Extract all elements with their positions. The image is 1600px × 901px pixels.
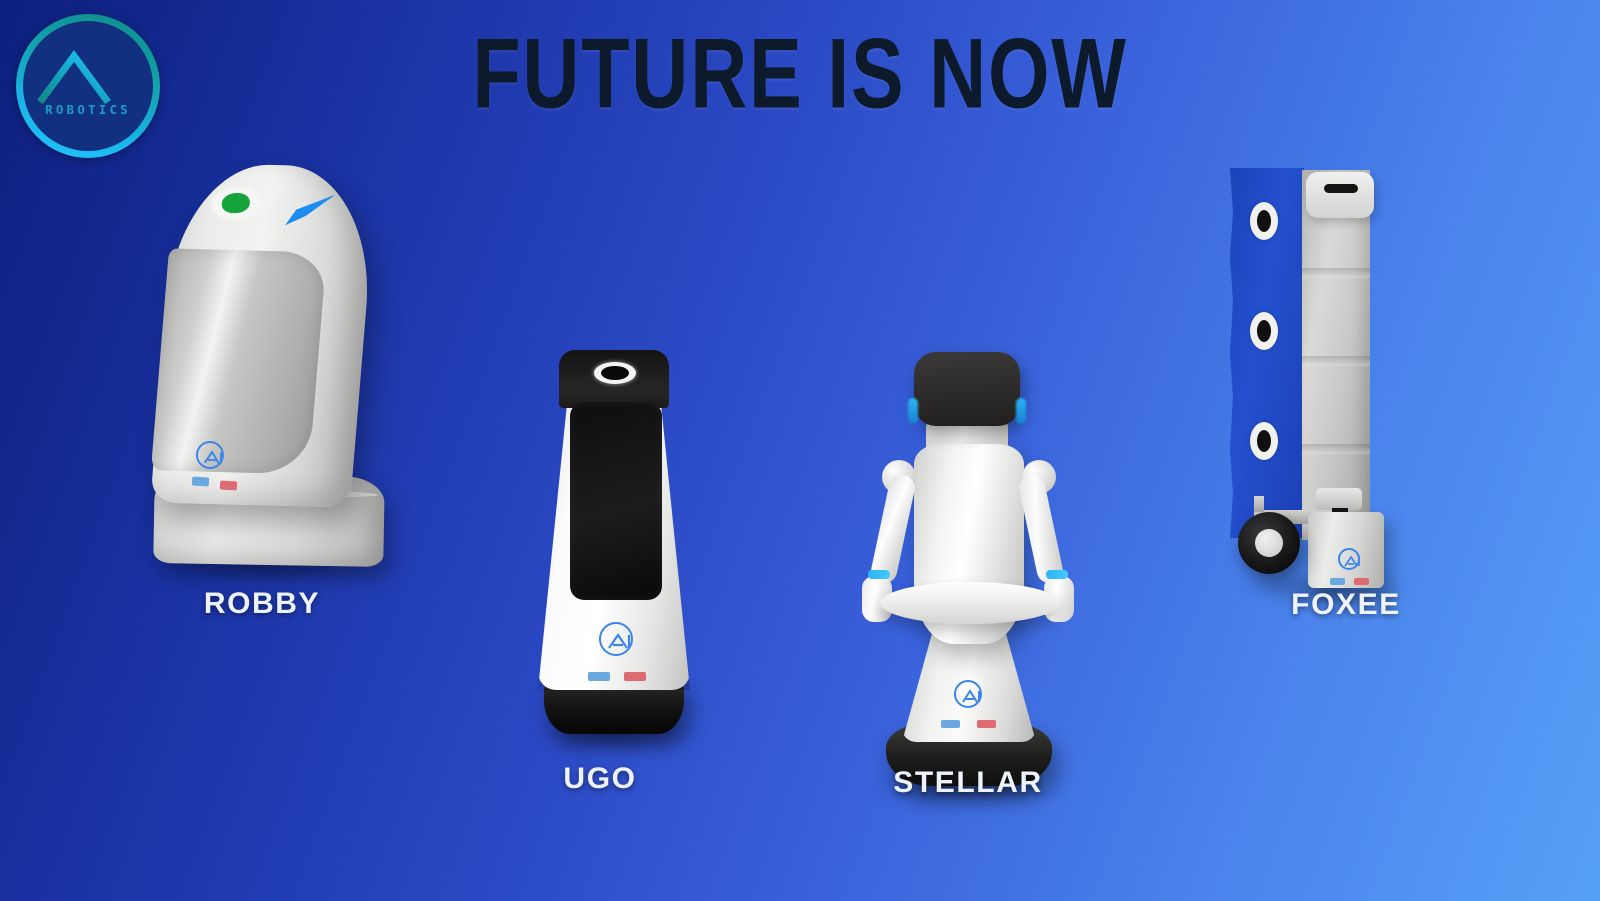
foxee-seam-3 <box>1302 444 1370 454</box>
ugo-status-chip-red <box>624 672 646 681</box>
foxee-seam-2 <box>1302 356 1370 366</box>
foxee-ai-badge-icon <box>1338 548 1360 570</box>
stellar-status-chip-red <box>977 720 996 728</box>
stellar-head-glow-left <box>908 398 918 424</box>
foxee-dispenser <box>1316 488 1362 510</box>
robby-green-eye-icon <box>212 186 259 220</box>
foxee-port-icon-2 <box>1250 312 1278 350</box>
robot-card-robby[interactable]: ROBBY <box>140 155 400 655</box>
stellar-arm-left <box>869 472 917 585</box>
ugo-ai-badge-icon <box>599 622 633 656</box>
robby-swoosh-icon <box>283 191 346 229</box>
robot-card-stellar[interactable]: STELLAR <box>830 348 1110 828</box>
ugo-screen-panel <box>570 402 662 600</box>
foxee-port-icon-1 <box>1250 202 1278 240</box>
poster-stage: ROBOTICS FUTURE IS NOW ROBBY <box>0 0 1600 901</box>
robot-card-ugo[interactable]: UGO <box>520 350 710 820</box>
stellar-wrist-accent-right <box>1046 570 1068 579</box>
robot-label-robby: ROBBY <box>204 587 320 621</box>
stellar-ai-badge-icon <box>954 680 982 708</box>
ugo-status-chip-blue <box>588 672 610 681</box>
robby-status-chip-blue <box>192 477 209 487</box>
robby-screen-panel <box>151 248 327 474</box>
robot-label-ugo: UGO <box>563 762 636 796</box>
foxee-wheel <box>1238 512 1300 574</box>
stellar-arm-right <box>1017 472 1065 585</box>
robot-label-foxee: FOXEE <box>1291 588 1401 622</box>
foxee-status-chip-red <box>1354 578 1369 585</box>
robby-ai-badge-icon <box>196 441 225 470</box>
stellar-head-glow-right <box>1016 398 1026 424</box>
foxee-gray-column <box>1302 170 1370 540</box>
foxee-head-module <box>1306 172 1374 218</box>
page-title: FUTURE IS NOW <box>112 18 1488 131</box>
robot-label-stellar: STELLAR <box>893 766 1043 800</box>
robot-card-foxee[interactable]: FOXEE <box>1220 160 1420 650</box>
robby-status-chip-red <box>220 481 237 491</box>
stellar-status-chip-blue <box>941 720 960 728</box>
robby-body <box>150 162 378 507</box>
foxee-seam-1 <box>1302 268 1370 278</box>
stellar-head-screen <box>914 352 1020 426</box>
stellar-wrist-accent-left <box>868 570 890 579</box>
ugo-camera-ring-icon <box>594 362 636 384</box>
foxee-port-icon-3 <box>1250 422 1278 460</box>
foxee-status-chip-blue <box>1330 578 1345 585</box>
stellar-tray <box>880 582 1060 624</box>
